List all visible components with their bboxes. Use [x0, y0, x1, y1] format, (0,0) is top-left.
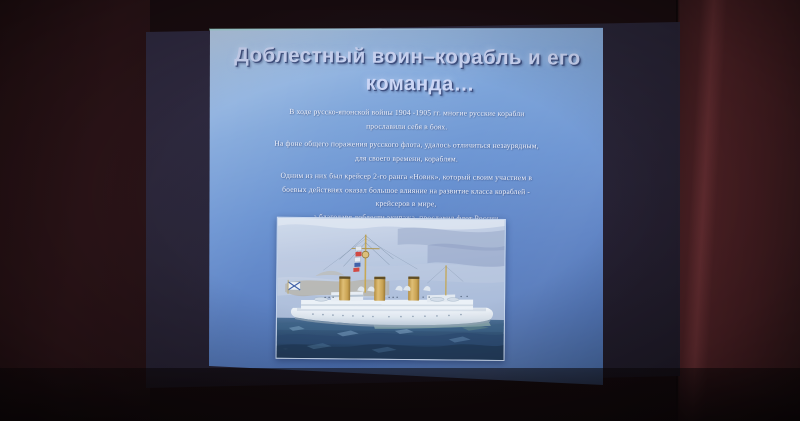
slide-paragraph-2: На фоне общего поражения русского флота,…	[223, 136, 589, 167]
slide-title: Доблестный воин–корабль и его команда…	[216, 41, 599, 99]
slide-content: Доблестный воин–корабль и его команда… В…	[207, 26, 604, 388]
cruiser-novik-painting	[277, 218, 505, 360]
room-wall-left	[0, 0, 150, 421]
projected-slide-photo: Доблестный воин–корабль и его команда… В…	[0, 0, 800, 421]
slide-paragraph-1-line-2: прославили себя в боях.	[224, 118, 590, 135]
ship-illustration-icon	[277, 218, 505, 360]
slide-title-line-1: Доблестный воин–корабль и его	[216, 41, 598, 72]
slide-image-frame	[276, 217, 506, 361]
slide-body-text: В ходе русско-японской войны 1904 -1905 …	[223, 104, 590, 226]
slide-title-line-2: команда…	[216, 68, 598, 99]
presentation-slide: Доблестный воин–корабль и его команда… В…	[209, 28, 603, 386]
slide-paragraph-1: В ходе русско-японской войны 1904 -1905 …	[224, 104, 590, 135]
